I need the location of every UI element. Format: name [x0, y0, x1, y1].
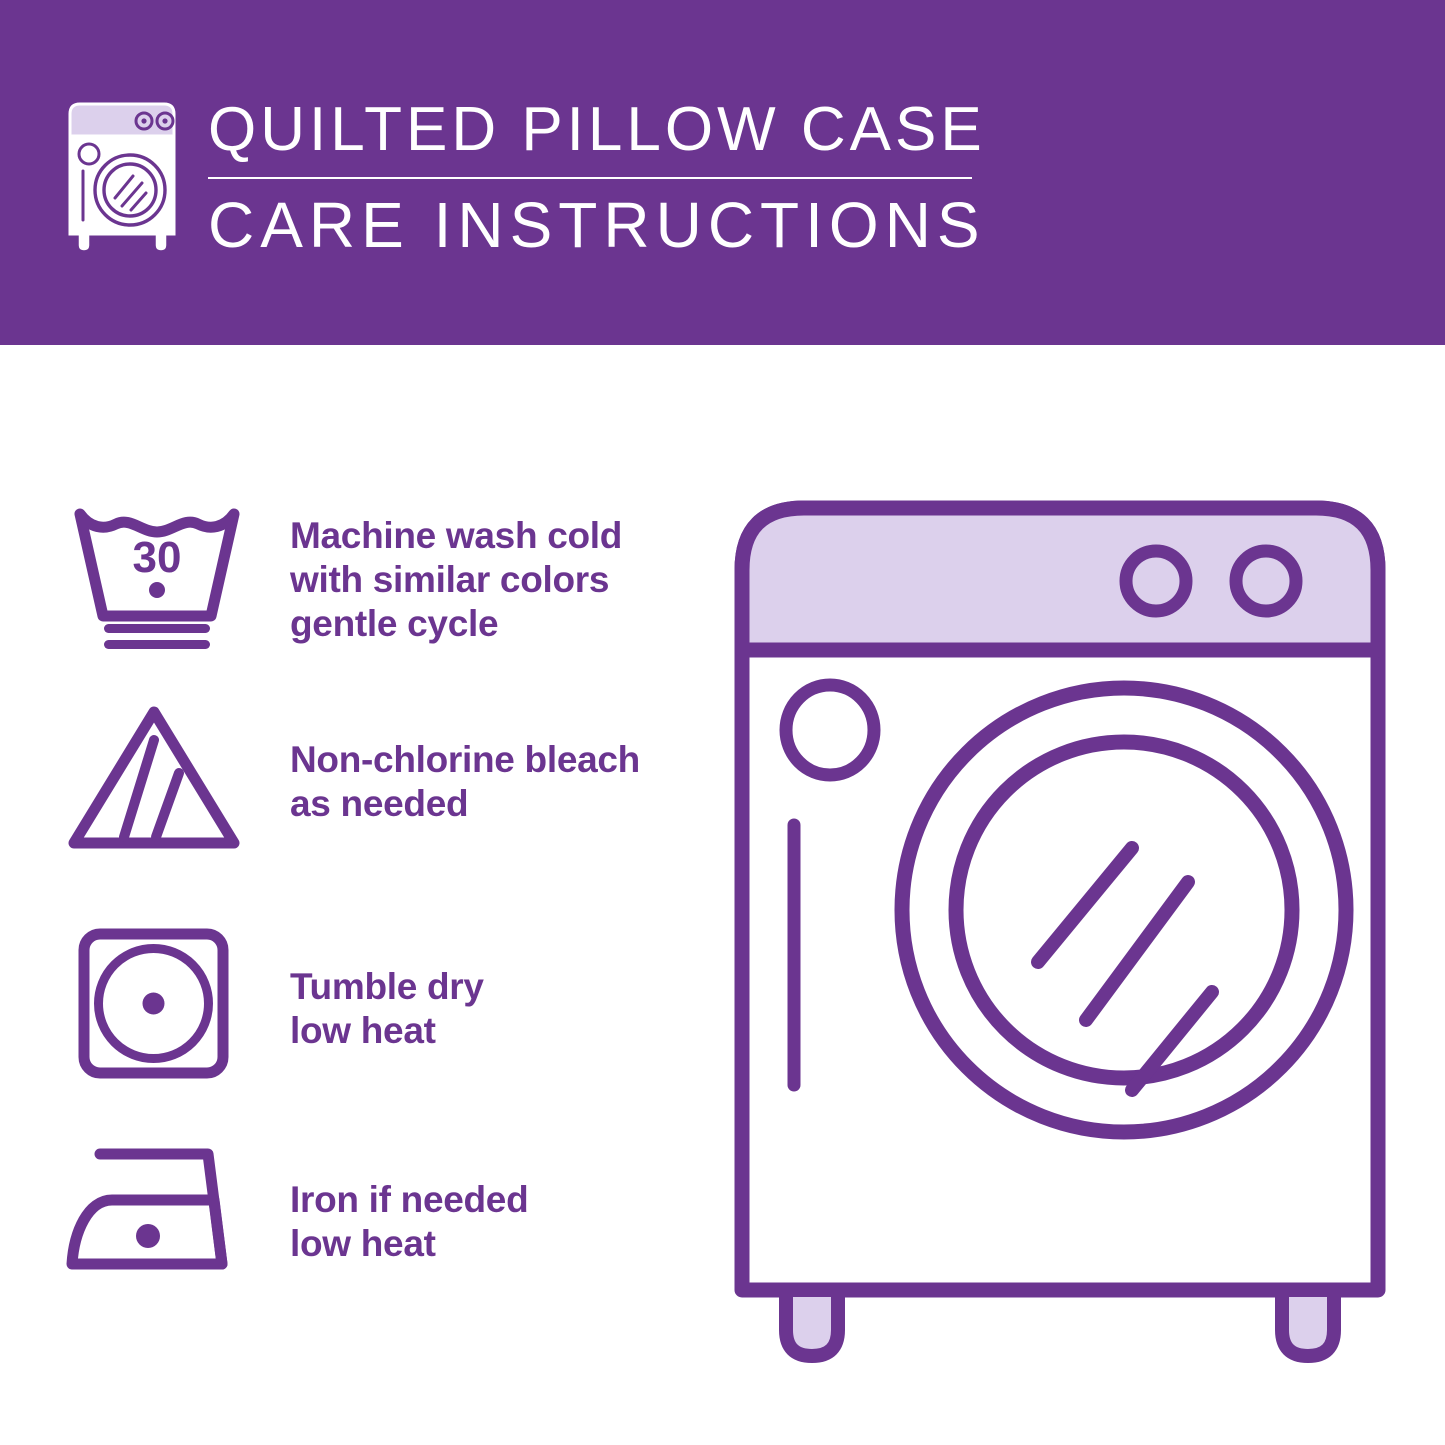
- page-subtitle: CARE INSTRUCTIONS: [208, 190, 998, 260]
- machine-dial-left: [1126, 551, 1186, 611]
- title-divider: [208, 177, 972, 179]
- header-title-block: QUILTED PILLOW CASE CARE INSTRUCTIONS: [208, 96, 998, 260]
- list-item: 30 Machine wash cold with similar colors…: [0, 490, 700, 690]
- wash-tub-30-icon: 30: [62, 494, 252, 654]
- tumble-dry-low-icon: [76, 924, 231, 1084]
- list-item: Iron if needed low heat: [0, 1140, 700, 1340]
- machine-leg-right: [1282, 1290, 1334, 1356]
- care-instruction-text: Machine wash cold with similar colors ge…: [290, 514, 622, 646]
- header-banner: QUILTED PILLOW CASE CARE INSTRUCTIONS: [0, 0, 1445, 345]
- care-instruction-text: Tumble dry low heat: [290, 965, 484, 1053]
- care-instruction-list: 30 Machine wash cold with similar colors…: [0, 345, 700, 1445]
- care-instruction-text: Iron if needed low heat: [290, 1178, 528, 1266]
- bleach-triangle-icon: [62, 700, 247, 860]
- machine-dial-right: [1236, 551, 1296, 611]
- wash-temperature-label: 30: [133, 533, 182, 582]
- page-title: QUILTED PILLOW CASE: [208, 96, 998, 164]
- list-item: Tumble dry low heat: [0, 920, 700, 1120]
- washing-machine-illustration: [720, 480, 1400, 1370]
- iron-low-heat-icon: [62, 1140, 252, 1290]
- care-instruction-text: Non-chlorine bleach as needed: [290, 738, 640, 826]
- washing-machine-icon: [62, 100, 182, 250]
- list-item: Non-chlorine bleach as needed: [0, 700, 700, 900]
- care-instructions-page: QUILTED PILLOW CASE CARE INSTRUCTIONS 30: [0, 0, 1445, 1445]
- machine-leg-left: [786, 1290, 838, 1356]
